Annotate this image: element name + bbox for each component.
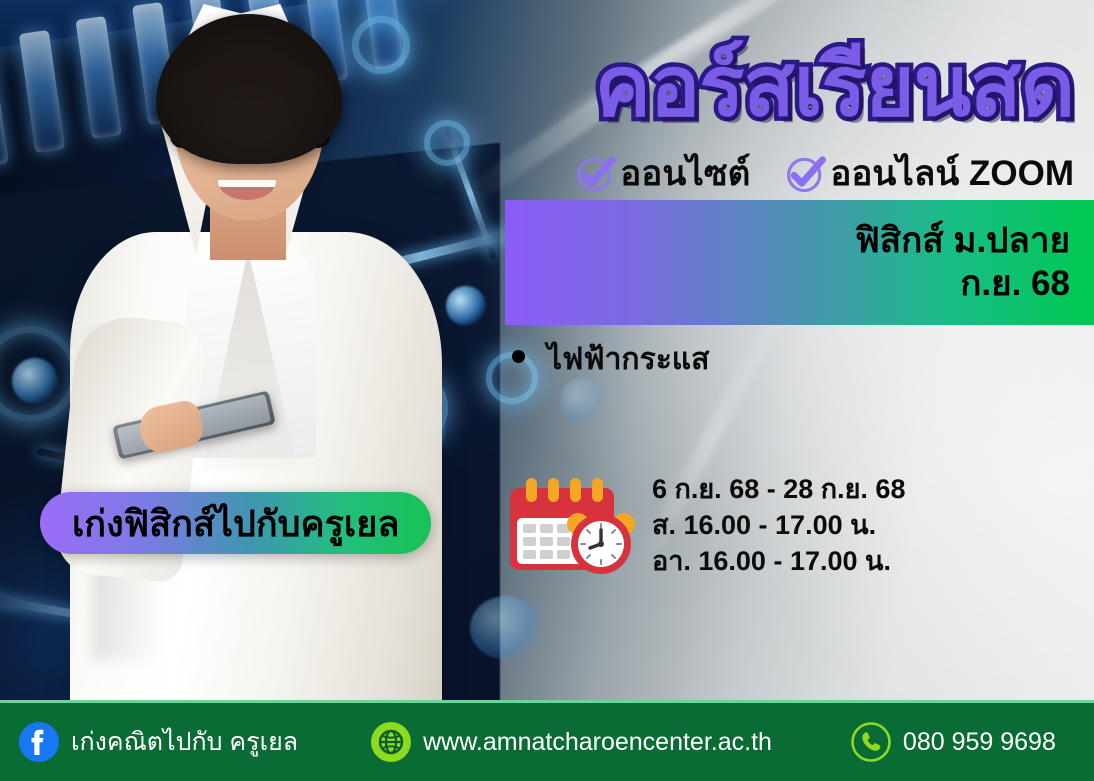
globe-icon[interactable] <box>370 721 412 763</box>
footer-facebook-label[interactable]: เก่งคณิตไปกับ ครูเยล <box>71 722 298 762</box>
footer-contact-bar: เก่งคณิตไปกับ ครูเยล www.amnatcharoencen… <box>0 700 1094 781</box>
tagline-text: เก่งฟิสิกส์ไปกับครูเยล <box>72 495 399 552</box>
list-item: ไฟฟ้ากระแส <box>512 336 1072 383</box>
footer-phone-label[interactable]: 080 959 9698 <box>903 728 1056 757</box>
schedule-lines: 6 ก.ย. 68 - 28 ก.ย. 68 ส. 16.00 - 17.00 … <box>652 472 905 579</box>
footer-phone[interactable]: 080 959 9698 <box>850 721 1056 763</box>
check-circle-icon <box>574 152 618 196</box>
schedule-block: 6 ก.ย. 68 - 28 ก.ย. 68 ส. 16.00 - 17.00 … <box>502 472 905 579</box>
page-title: คอร์สเรียนสด <box>595 44 1074 128</box>
footer-facebook[interactable]: เก่งคณิตไปกับ ครูเยล <box>18 721 298 763</box>
tagline-pill: เก่งฟิสิกส์ไปกับครูเยล <box>40 492 431 554</box>
mode-label: ออนไลน์ ZOOM <box>830 146 1074 201</box>
bullet-dot-icon <box>512 350 525 363</box>
subject-month: ก.ย. 68 <box>960 263 1070 306</box>
hair <box>156 14 342 164</box>
footer-website[interactable]: www.amnatcharoencenter.ac.th <box>370 721 772 763</box>
promo-poster: คอร์สเรียนสด ออนไซต์ ออนไลน์ ZOOM ฟิสิกส… <box>0 0 1094 781</box>
topic-label: ไฟฟ้ากระแส <box>547 336 709 383</box>
footer-website-label[interactable]: www.amnatcharoencenter.ac.th <box>423 728 772 757</box>
teacher-portrait <box>52 0 482 700</box>
check-circle-icon <box>784 152 828 196</box>
subject-banner: ฟิสิกส์ ม.ปลาย ก.ย. 68 <box>505 200 1094 325</box>
schedule-sunday: อา. 16.00 - 17.00 น. <box>652 544 905 579</box>
mode-label: ออนไซต์ <box>620 146 750 201</box>
subject-name: ฟิสิกส์ ม.ปลาย <box>855 220 1070 263</box>
mode-item-online-zoom: ออนไลน์ ZOOM <box>784 146 1074 201</box>
mode-item-onsite: ออนไซต์ <box>574 146 750 201</box>
schedule-saturday: ส. 16.00 - 17.00 น. <box>652 508 905 543</box>
phone-icon[interactable] <box>850 721 892 763</box>
topic-list: ไฟฟ้ากระแส <box>512 336 1072 383</box>
schedule-date-range: 6 ก.ย. 68 - 28 ก.ย. 68 <box>652 472 905 507</box>
delivery-mode-row: ออนไซต์ ออนไลน์ ZOOM <box>574 146 1074 201</box>
calendar-clock-icon <box>502 474 638 578</box>
facebook-icon[interactable] <box>18 721 60 763</box>
